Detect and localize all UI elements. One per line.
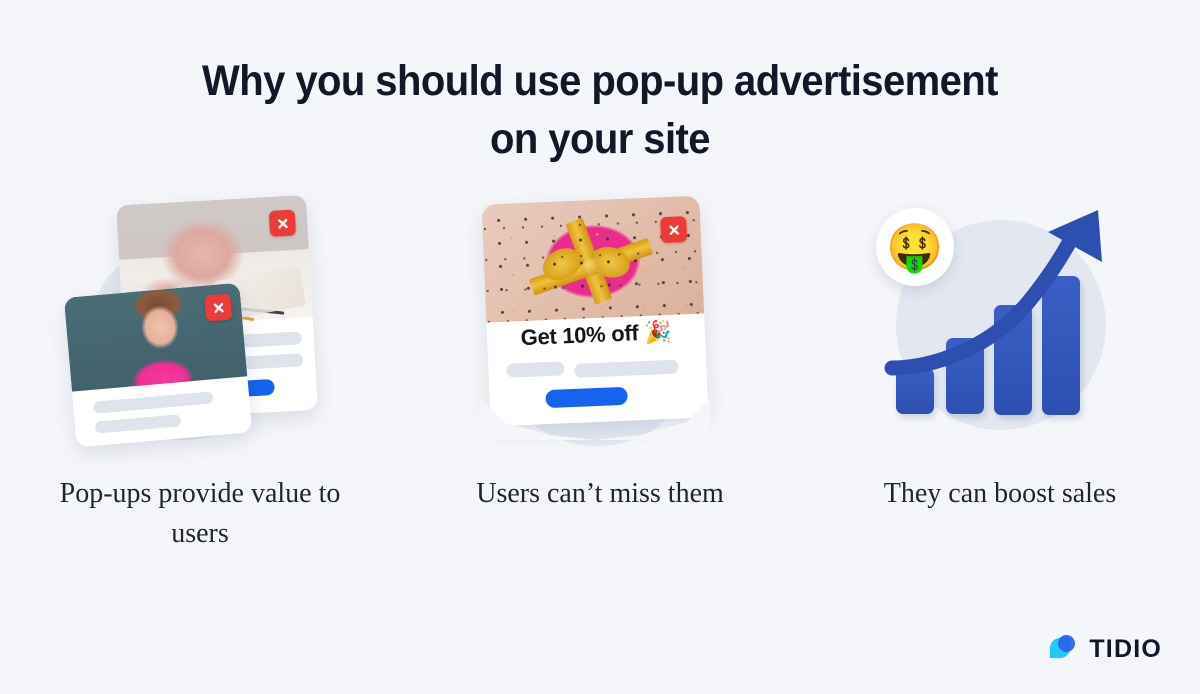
feature-caption: Pop-ups provide value to users bbox=[35, 474, 365, 554]
gift-popup-card: Get 10% off 🎉 bbox=[481, 196, 708, 427]
placeholder-line bbox=[574, 360, 678, 378]
offer-headline: Get 10% off 🎉 bbox=[487, 317, 706, 352]
close-button[interactable] bbox=[660, 216, 687, 243]
pen-prop bbox=[240, 307, 284, 314]
gift-box-photo bbox=[481, 196, 704, 323]
tidio-logo[interactable]: TIDIO bbox=[1044, 632, 1162, 666]
feature-caption: Users can’t miss them bbox=[435, 474, 765, 514]
feature-column-value-to-users: Pop-ups provide value to users bbox=[0, 190, 400, 554]
placeholder-line bbox=[93, 391, 214, 413]
feature-column-cant-miss-them: Get 10% off 🎉 Users can’t miss them bbox=[400, 190, 800, 554]
close-icon bbox=[211, 300, 225, 314]
stacked-popup-cards-illustration bbox=[70, 190, 330, 452]
growth-chart-illustration: 🤑 bbox=[870, 190, 1130, 452]
placeholder-line bbox=[506, 361, 565, 377]
confetti-overlay bbox=[481, 196, 704, 323]
page-title-line-2: on your site bbox=[42, 110, 1158, 168]
tidio-logo-mark bbox=[1044, 632, 1078, 666]
close-icon bbox=[667, 223, 681, 237]
tidio-bubble-icon bbox=[1044, 632, 1078, 666]
close-button[interactable] bbox=[269, 210, 296, 237]
woman-popup-card bbox=[64, 283, 252, 448]
close-button[interactable] bbox=[204, 293, 232, 321]
gift-popup-illustration: Get 10% off 🎉 bbox=[470, 190, 730, 452]
page-title-line-1: Why you should use pop-up advertisement bbox=[42, 52, 1158, 110]
feature-columns: Pop-ups provide value to users bbox=[0, 190, 1200, 554]
placeholder-line bbox=[95, 414, 182, 433]
feature-column-boost-sales: 🤑 They can boost sales bbox=[800, 190, 1200, 554]
money-mouth-face-emoji-badge: 🤑 bbox=[876, 208, 954, 286]
money-mouth-face-emoji: 🤑 bbox=[886, 224, 943, 270]
popup-cta-button[interactable] bbox=[545, 387, 628, 408]
tidio-wordmark: TIDIO bbox=[1089, 635, 1162, 664]
close-icon bbox=[276, 216, 290, 230]
feature-caption: They can boost sales bbox=[835, 474, 1165, 514]
page-title: Why you should use pop-up advertisement … bbox=[0, 52, 1200, 168]
